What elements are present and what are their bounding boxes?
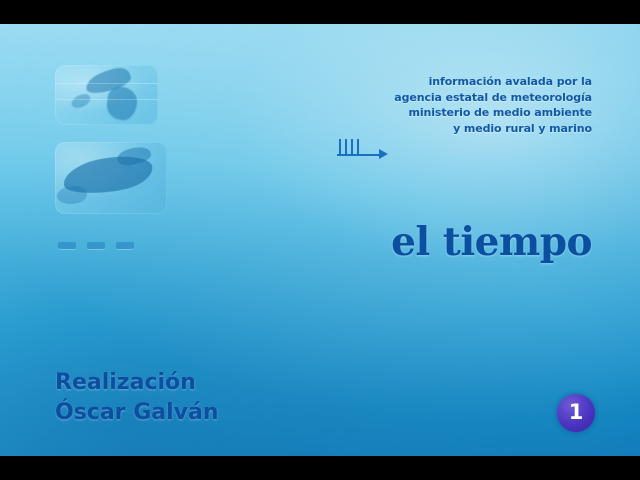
agency-credit-line-2: agencia estatal de meteorología	[322, 90, 592, 106]
production-credits: Realización Óscar Galván	[55, 368, 219, 428]
letterbox-bar-top	[0, 0, 640, 24]
credit-name: Óscar Galván	[55, 398, 219, 428]
channel-bug-number: 1	[569, 402, 584, 424]
video-frame: información avalada por la agencia estat…	[0, 0, 640, 480]
page-title: el tiempo	[391, 219, 592, 265]
dashes-icon	[58, 242, 134, 249]
wind-barb	[351, 139, 353, 155]
wind-arrow-stem	[337, 154, 383, 156]
wind-barb	[357, 139, 359, 155]
dash-mark	[58, 242, 76, 249]
wind-barb	[345, 139, 347, 155]
globe-icon	[55, 65, 158, 125]
map-icon	[55, 142, 167, 214]
agency-credit-block: información avalada por la agencia estat…	[322, 74, 592, 136]
dash-mark	[116, 242, 134, 249]
credit-role: Realización	[55, 368, 219, 398]
agency-credit-line-3: ministerio de medio ambiente	[322, 105, 592, 121]
dash-mark	[87, 242, 105, 249]
wind-arrow-head	[379, 149, 388, 159]
wind-arrow-icon	[333, 132, 395, 166]
globe-latitude-line	[55, 99, 158, 100]
channel-bug: 1	[557, 394, 595, 432]
globe-landmass-south	[105, 85, 139, 122]
agency-credit-line-4: y medio rural y marino	[322, 121, 592, 137]
map-landmass-lower	[57, 186, 87, 204]
globe-latitude-line	[55, 83, 158, 84]
letterbox-bar-bottom	[0, 456, 640, 480]
globe-landmass-west	[69, 91, 92, 110]
weather-titlecard-stage: información avalada por la agencia estat…	[0, 24, 640, 456]
agency-credit-line-1: información avalada por la	[322, 74, 592, 90]
wind-barb	[339, 139, 341, 155]
